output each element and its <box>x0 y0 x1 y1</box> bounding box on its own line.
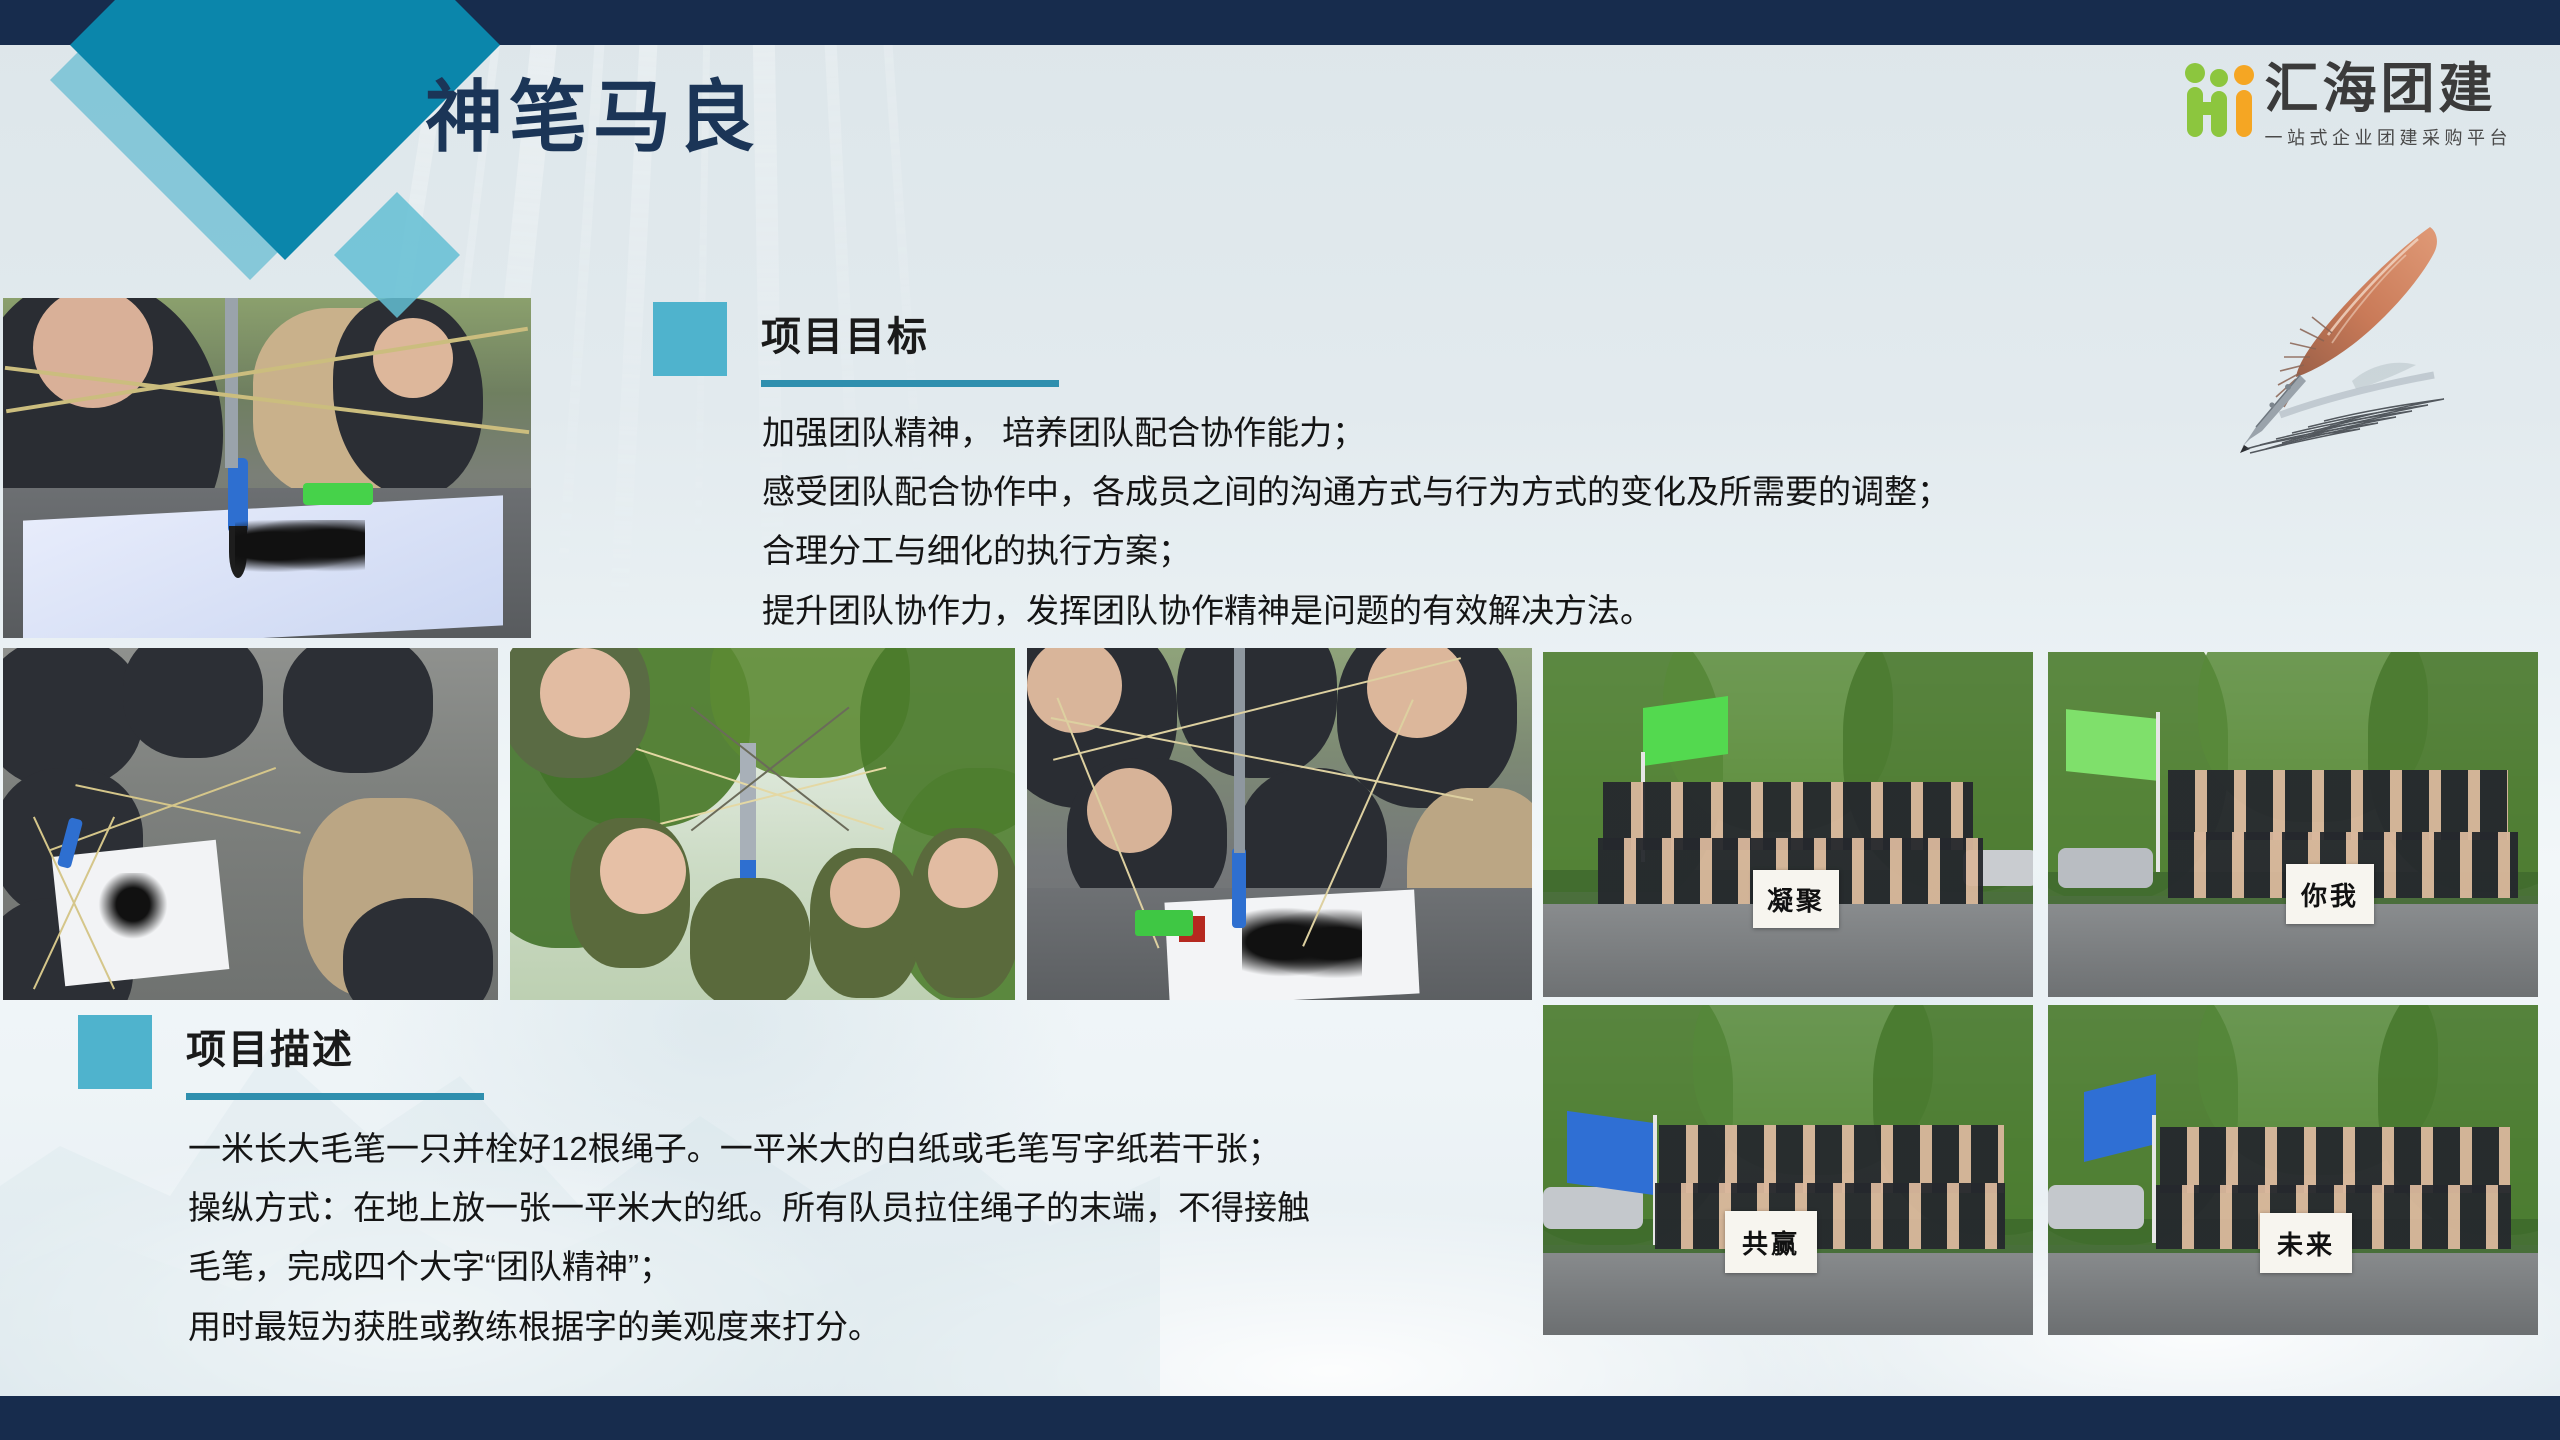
brand-logo: 汇海团建 一站式企业团建采购平台 <box>2183 62 2513 150</box>
objective-line-3: 合理分工与细化的执行方案； <box>762 530 2362 572</box>
photo-group-ningju[interactable]: 凝聚 <box>1543 652 2033 997</box>
description-body: 一米长大毛笔一只并栓好12根绳子。一平米大的白纸或毛笔写字纸若干张； 操纵方式：… <box>188 1128 1588 1348</box>
photo-treetop-rope[interactable] <box>510 648 1015 1000</box>
description-line-1: 一米长大毛笔一只并栓好12根绳子。一平米大的白纸或毛笔写字纸若干张； <box>188 1128 1588 1170</box>
page-title: 神笔马良 <box>425 78 761 156</box>
description-line-3: 毛笔，完成四个大字“团队精神”； <box>188 1246 1588 1288</box>
objective-line-2: 感受团队配合协作中，各成员之间的沟通方式与行为方式的变化及所需要的调整； <box>762 471 2362 513</box>
section-title: 项目描述 <box>186 1017 354 1075</box>
section-rule <box>186 1093 484 1100</box>
objective-body: 加强团队精神， 培养团队配合协作能力； 感受团队配合协作中，各成员之间的沟通方式… <box>762 412 2362 632</box>
team-flag-green <box>1643 696 1728 766</box>
description-line-4: 用时最短为获胜或教练根据字的美观度来打分。 <box>188 1306 1588 1348</box>
logo-name: 汇海团建 <box>2265 62 2513 116</box>
objective-line-1: 加强团队精神， 培养团队配合协作能力； <box>762 412 2362 454</box>
team-flag-green <box>2066 709 2158 781</box>
logo-tagline: 一站式企业团建采购平台 <box>2265 124 2513 150</box>
diamond-decoration <box>0 0 640 330</box>
section-title: 项目目标 <box>761 304 929 362</box>
banner-caption: 未来 <box>2260 1213 2352 1273</box>
banner-caption: 凝聚 <box>1753 870 1839 928</box>
photo-group-niwo[interactable]: 你我 <box>2048 652 2538 997</box>
section-heading-objective: 项目目标 <box>653 302 1353 394</box>
description-line-2: 操纵方式：在地上放一张一平米大的纸。所有队员拉住绳子的末端，不得接触 <box>188 1187 1588 1229</box>
section-rule <box>761 380 1059 387</box>
photo-group-weilai[interactable]: 未来 <box>2048 1005 2538 1335</box>
section-square-marker <box>78 1015 152 1089</box>
photo-group-gongying[interactable]: 共赢 <box>1543 1005 2033 1335</box>
banner-caption: 你我 <box>2286 864 2374 924</box>
photo-circle-writing[interactable] <box>1027 648 1532 1000</box>
section-heading-description: 项目描述 <box>78 1015 778 1107</box>
bottom-navy-bar <box>0 1396 2560 1440</box>
section-square-marker <box>653 302 727 376</box>
photo-overhead-rope[interactable] <box>3 648 498 1000</box>
banner-caption: 共赢 <box>1725 1211 1817 1273</box>
slide-canvas: 神笔马良 汇海团建 一站式企业团建采购平台 <box>0 0 2560 1440</box>
hi-logo-icon <box>2183 62 2255 140</box>
photo-brush-closeup[interactable] <box>3 298 531 638</box>
objective-line-4: 提升团队协作力，发挥团队协作精神是问题的有效解决方法。 <box>762 590 2362 632</box>
